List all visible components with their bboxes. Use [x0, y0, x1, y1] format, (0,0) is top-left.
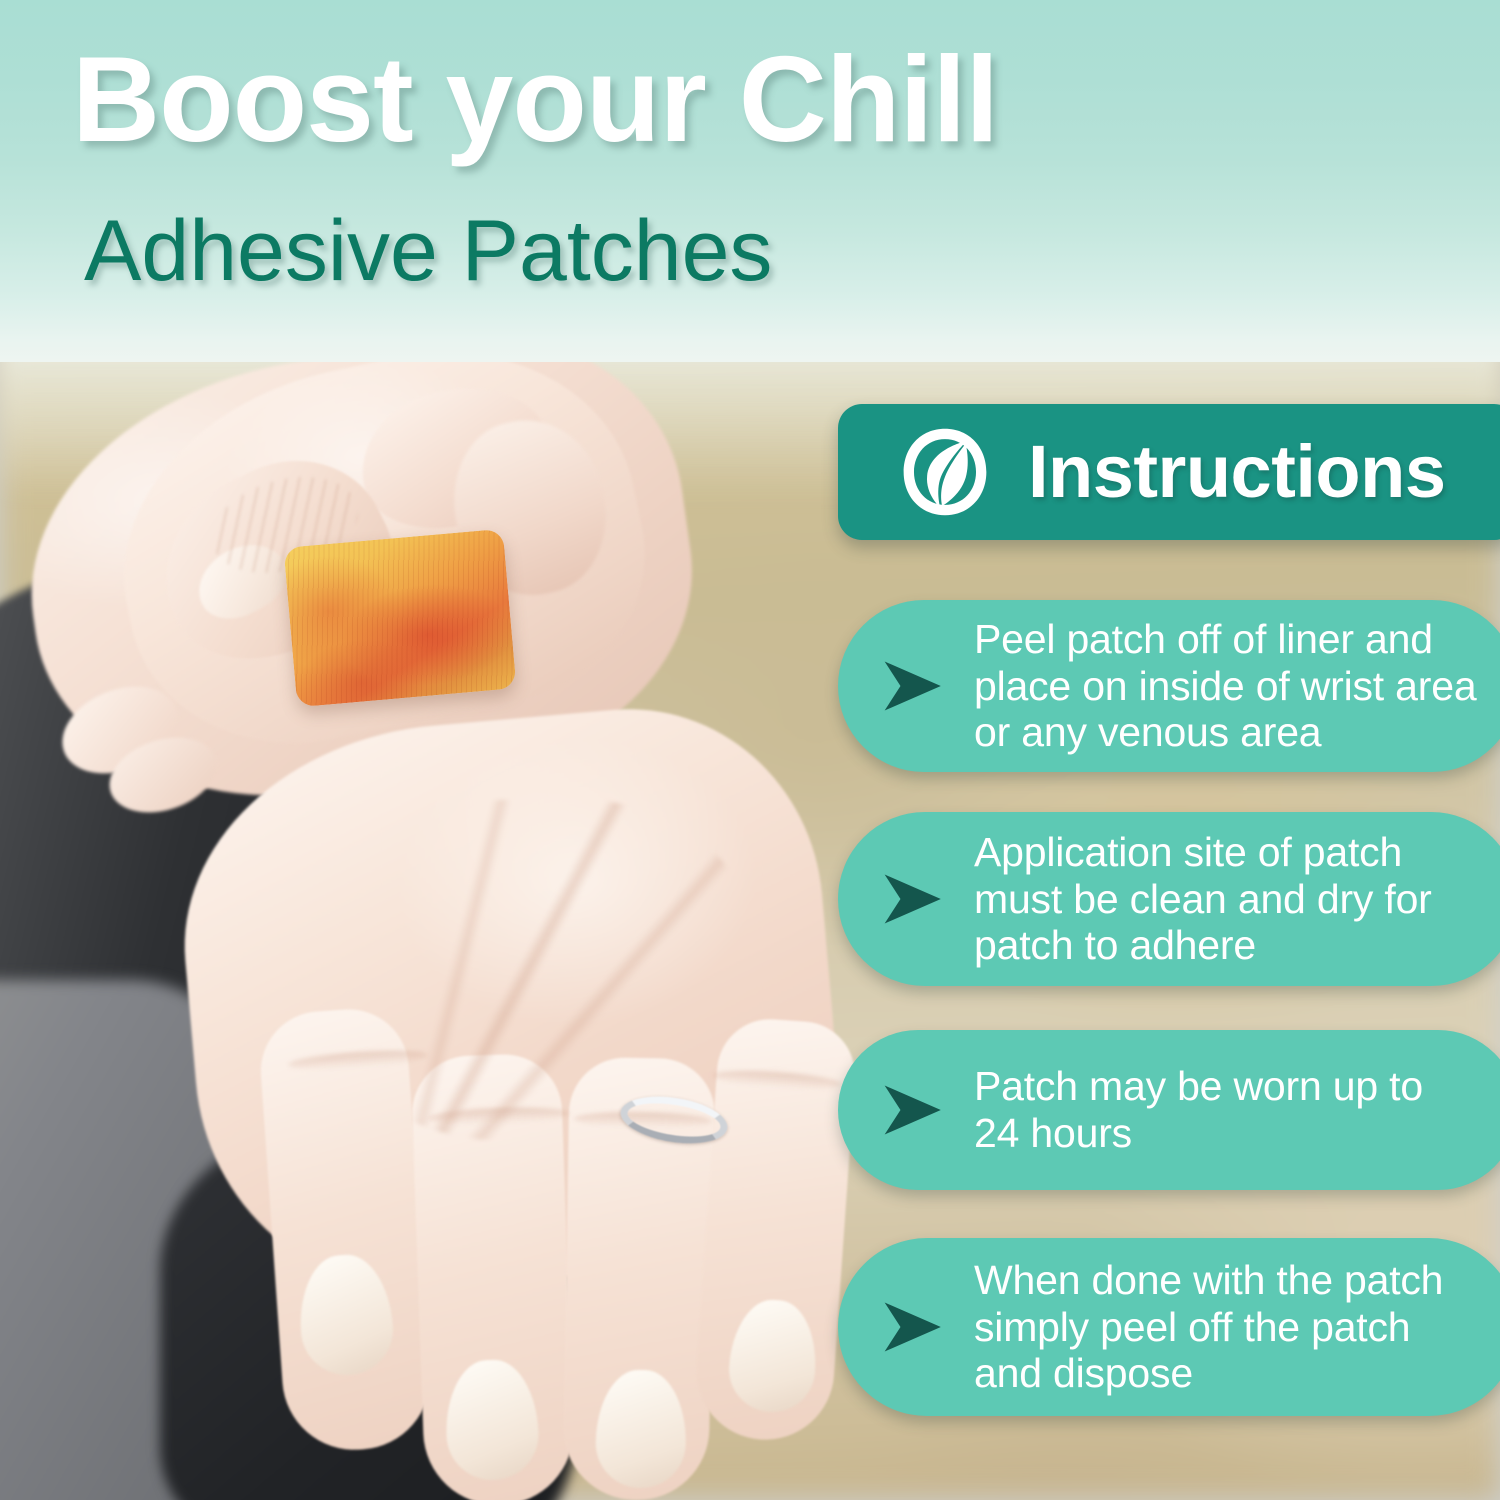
leaf-in-circle-icon — [898, 425, 992, 519]
instructions-title: Instructions — [1028, 435, 1445, 509]
instruction-step-3: Patch may be worn up to 24 hours — [838, 1030, 1500, 1190]
instruction-step-2: Application site of patch must be clean … — [838, 812, 1500, 986]
instructions-header: Instructions — [838, 404, 1500, 540]
arrow-right-icon — [876, 650, 948, 722]
step-line: or any venous area — [974, 709, 1476, 756]
arrow-right-icon — [876, 1074, 948, 1146]
arrow-right-icon — [876, 1291, 948, 1363]
step-line: simply peel off the patch — [974, 1304, 1443, 1351]
step-line: When done with the patch — [974, 1257, 1443, 1304]
page-title: Boost your Chill — [72, 38, 998, 160]
step-line: must be clean and dry for — [974, 876, 1432, 923]
instruction-step-4: When done with the patch simply peel off… — [838, 1238, 1500, 1416]
instruction-step-2-text: Application site of patch must be clean … — [974, 829, 1432, 969]
instruction-step-1: Peel patch off of liner and place on ins… — [838, 600, 1500, 772]
page-subtitle: Adhesive Patches — [84, 208, 772, 294]
instruction-step-3-text: Patch may be worn up to 24 hours — [974, 1063, 1423, 1156]
infographic-canvas: Boost your Chill Adhesive Patches Instru… — [0, 0, 1500, 1500]
step-line: 24 hours — [974, 1110, 1423, 1157]
palm-creases — [330, 800, 750, 1140]
adhesive-patch — [283, 529, 516, 708]
step-line: Patch may be worn up to — [974, 1063, 1423, 1110]
step-line: patch to adhere — [974, 922, 1432, 969]
instruction-step-1-text: Peel patch off of liner and place on ins… — [974, 616, 1476, 756]
step-line: Peel patch off of liner and — [974, 616, 1476, 663]
step-line: and dispose — [974, 1350, 1443, 1397]
instruction-step-4-text: When done with the patch simply peel off… — [974, 1257, 1443, 1397]
arrow-right-icon — [876, 863, 948, 935]
step-line: place on inside of wrist area — [974, 663, 1476, 710]
step-line: Application site of patch — [974, 829, 1432, 876]
header-band: Boost your Chill Adhesive Patches — [0, 0, 1500, 362]
